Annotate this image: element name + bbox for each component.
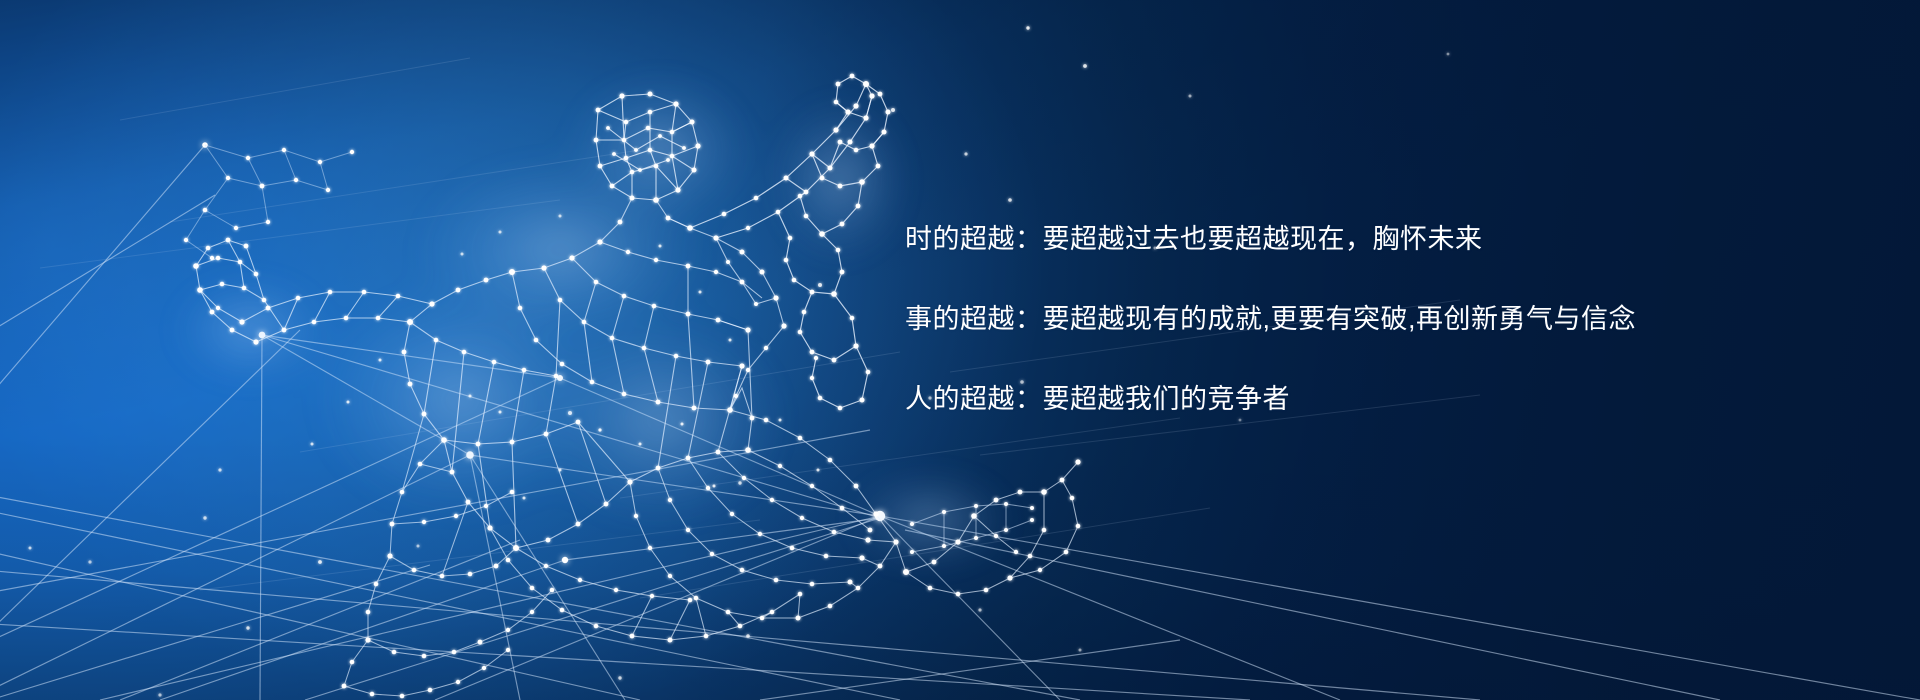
slogan-line-people: 人的超越：要超越我们的竞争者 bbox=[905, 386, 1845, 413]
slogan-line-time: 时的超越：要超越过去也要超越现在，胸怀未来 bbox=[905, 226, 1845, 253]
banner-stage: 时的超越：要超越过去也要超越现在，胸怀未来 事的超越：要超越现有的成就,更要有突… bbox=[0, 0, 1920, 700]
slogan-text-block: 时的超越：要超越过去也要超越现在，胸怀未来 事的超越：要超越现有的成就,更要有突… bbox=[905, 226, 1845, 413]
slogan-line-matter: 事的超越：要超越现有的成就,更要有突破,再创新勇气与信念 bbox=[905, 306, 1845, 333]
